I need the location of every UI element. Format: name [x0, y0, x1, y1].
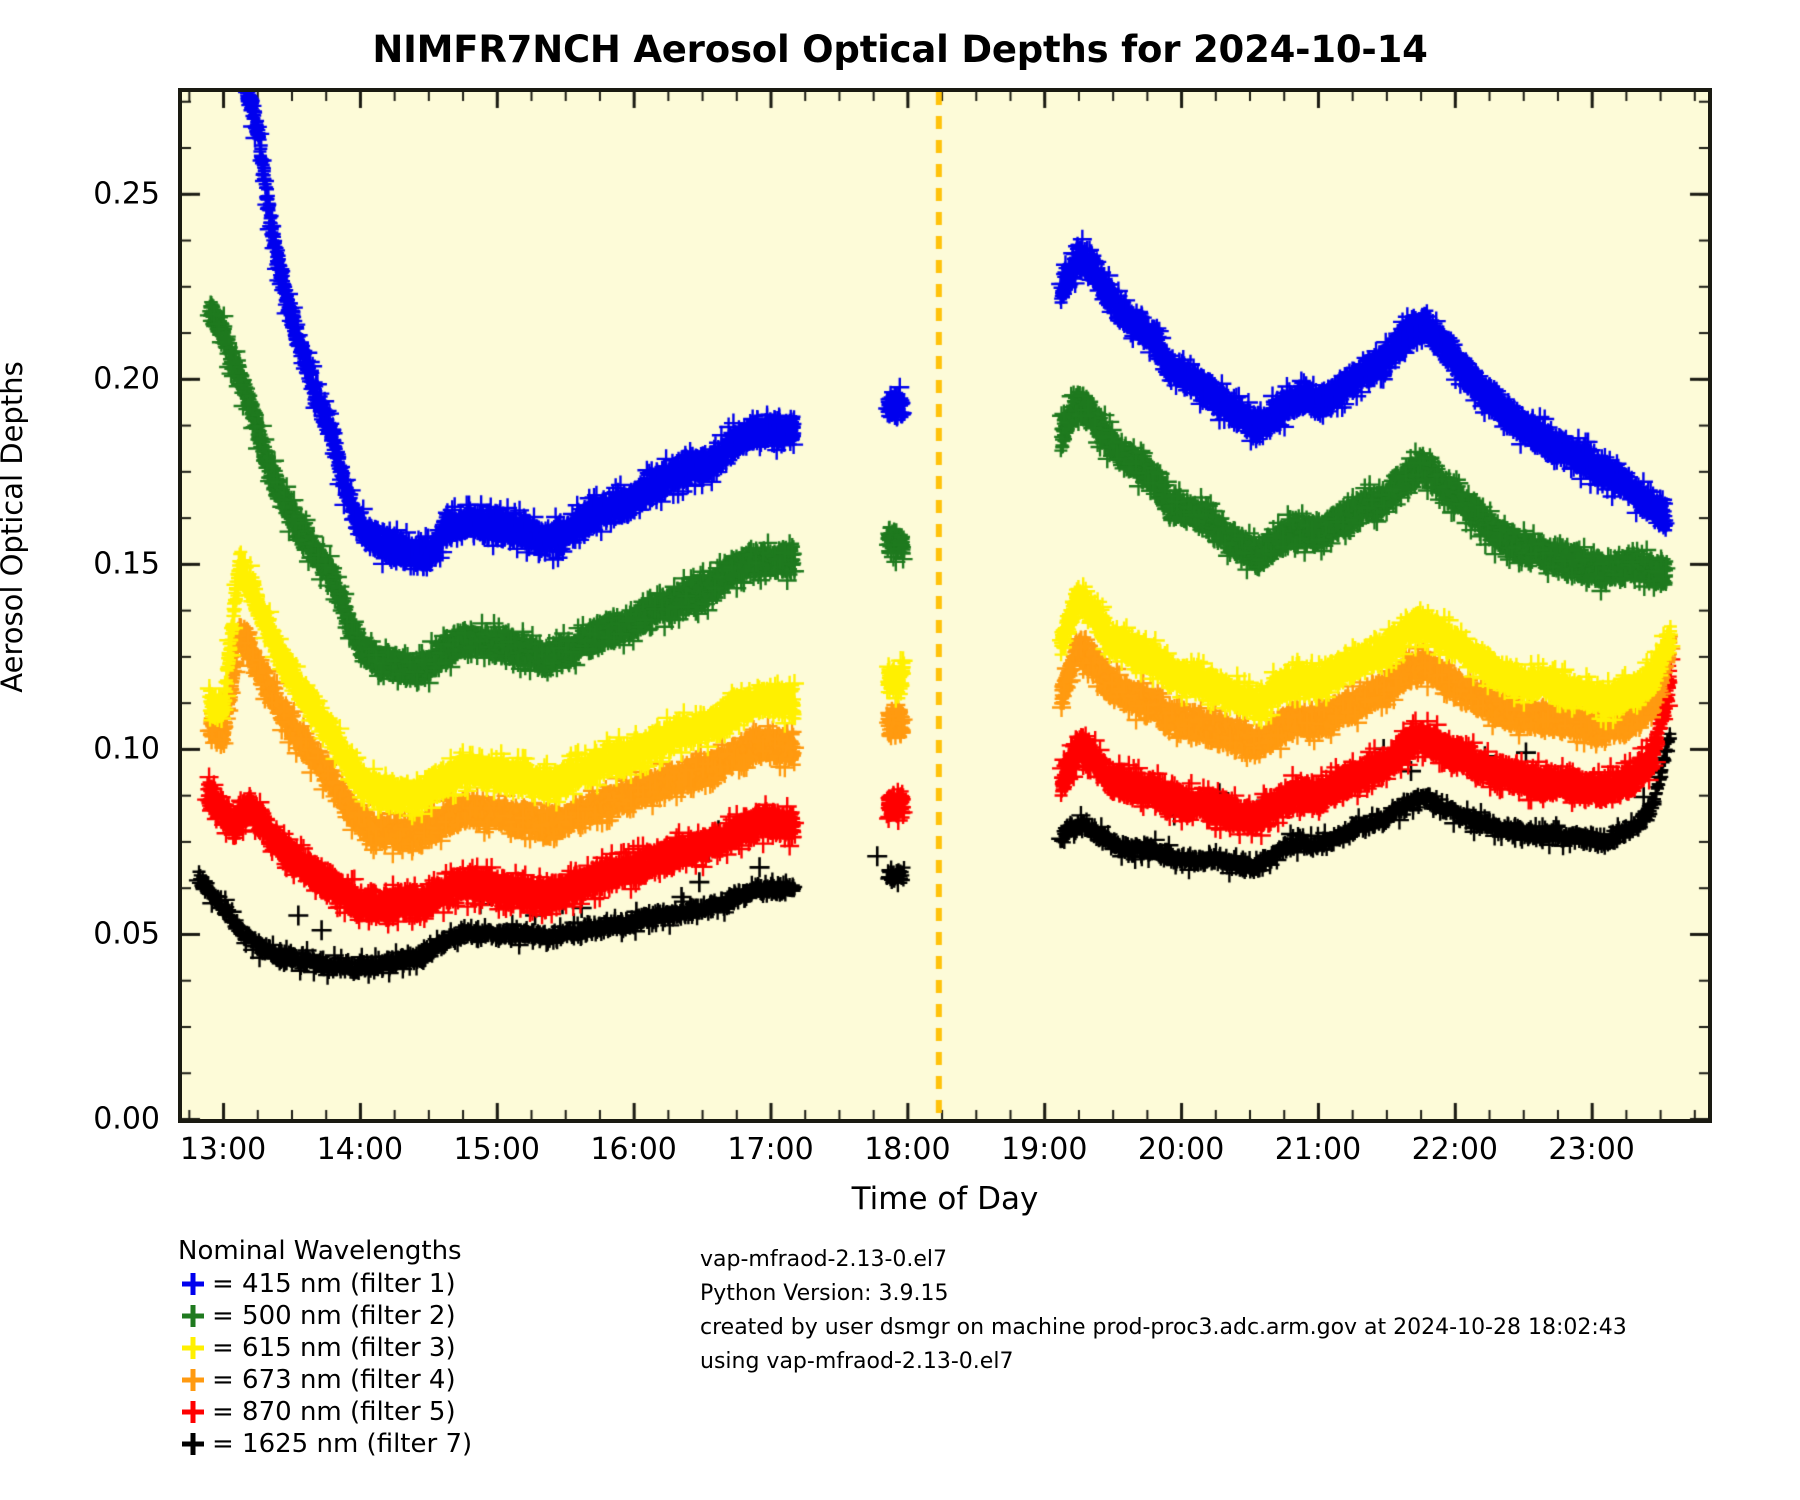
legend-item-label: = 870 nm (filter 5) [212, 1397, 456, 1427]
y-tick-label: 0.10 [20, 731, 160, 766]
legend-item: = 870 nm (filter 5) [178, 1396, 472, 1428]
legend-item: = 1625 nm (filter 7) [178, 1428, 472, 1460]
legend-item-label: = 500 nm (filter 2) [212, 1301, 456, 1331]
legend-item-label: = 615 nm (filter 3) [212, 1333, 456, 1363]
legend: Nominal Wavelengths = 415 nm (filter 1)=… [178, 1236, 472, 1460]
chart-title: NIMFR7NCH Aerosol Optical Depths for 202… [0, 28, 1800, 71]
plus-marker-icon [178, 1301, 208, 1331]
legend-item: = 673 nm (filter 4) [178, 1364, 472, 1396]
x-tick-label: 23:00 [1512, 1132, 1672, 1167]
footer-metadata: vap-mfraod-2.13-0.el7Python Version: 3.9… [700, 1243, 1627, 1379]
y-tick-label: 0.15 [20, 546, 160, 581]
legend-rows: = 415 nm (filter 1)= 500 nm (filter 2)= … [178, 1268, 472, 1460]
plus-marker-icon [178, 1269, 208, 1299]
footer-line: created by user dsmgr on machine prod-pr… [700, 1311, 1627, 1345]
figure-root: NIMFR7NCH Aerosol Optical Depths for 202… [0, 0, 1800, 1500]
legend-item: = 615 nm (filter 3) [178, 1332, 472, 1364]
y-tick-label: 0.00 [20, 1102, 160, 1137]
legend-item-label: = 673 nm (filter 4) [212, 1365, 456, 1395]
y-tick-label: 0.05 [20, 916, 160, 951]
plus-marker-icon [178, 1333, 208, 1363]
y-tick-label: 0.25 [20, 176, 160, 211]
x-axis-title: Time of Day [178, 1181, 1712, 1217]
legend-item: = 500 nm (filter 2) [178, 1300, 472, 1332]
legend-item-label: = 415 nm (filter 1) [212, 1269, 456, 1299]
y-tick-label: 0.20 [20, 361, 160, 396]
footer-line: using vap-mfraod-2.13-0.el7 [700, 1345, 1627, 1379]
plus-marker-icon [178, 1397, 208, 1427]
plus-marker-icon [178, 1365, 208, 1395]
legend-item: = 415 nm (filter 1) [178, 1268, 472, 1300]
y-axis-title: Aerosol Optical Depths [0, 0, 29, 1127]
legend-item-label: = 1625 nm (filter 7) [212, 1429, 472, 1459]
plus-marker-icon [178, 1429, 208, 1459]
footer-line: Python Version: 3.9.15 [700, 1277, 1627, 1311]
plot-area [178, 88, 1712, 1123]
footer-line: vap-mfraod-2.13-0.el7 [700, 1243, 1627, 1277]
plot-canvas [182, 92, 1708, 1119]
legend-title: Nominal Wavelengths [178, 1236, 472, 1266]
